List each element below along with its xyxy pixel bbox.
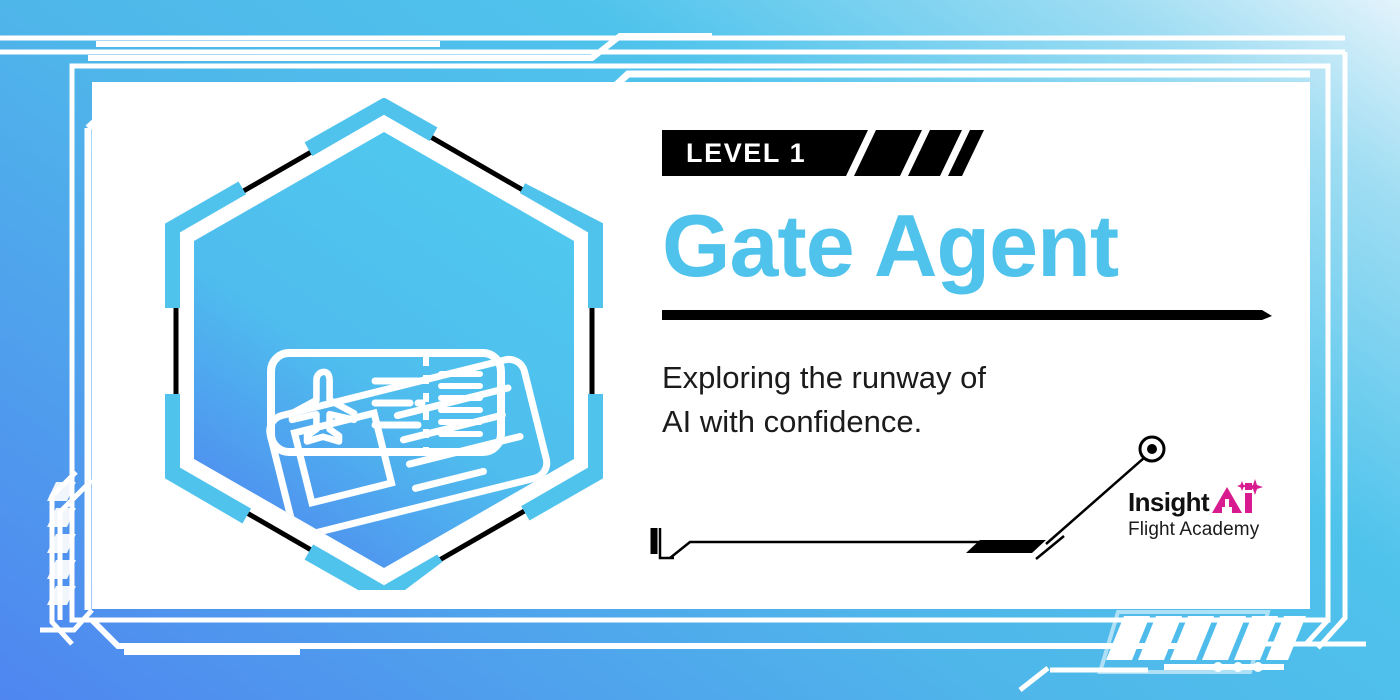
brand-wordmark: Insight	[1128, 488, 1209, 516]
page-title: Gate Agent	[662, 200, 1272, 292]
brand-tagline: Flight Academy	[1128, 519, 1278, 541]
content-column: LEVEL 1 Gate Agent Exploring the runway …	[662, 130, 1272, 444]
title-divider	[662, 308, 1272, 322]
poster-canvas: LEVEL 1 Gate Agent Exploring the runway …	[0, 0, 1400, 700]
ai-mark-icon	[1211, 479, 1263, 518]
brand-logo: Insight Flight Academy	[1128, 482, 1278, 541]
circuit-connector-line	[648, 432, 1178, 562]
level-badge-label: LEVEL 1	[686, 130, 806, 176]
boarding-pass-hexagon-icon	[160, 98, 608, 590]
level-badge: LEVEL 1	[662, 130, 984, 178]
subtitle-line-1: Exploring the runway of	[662, 356, 1272, 400]
stripe-block	[1100, 612, 1366, 672]
corner-dots	[1164, 662, 1284, 672]
subtitle: Exploring the runway of AI with confiden…	[662, 356, 1272, 444]
